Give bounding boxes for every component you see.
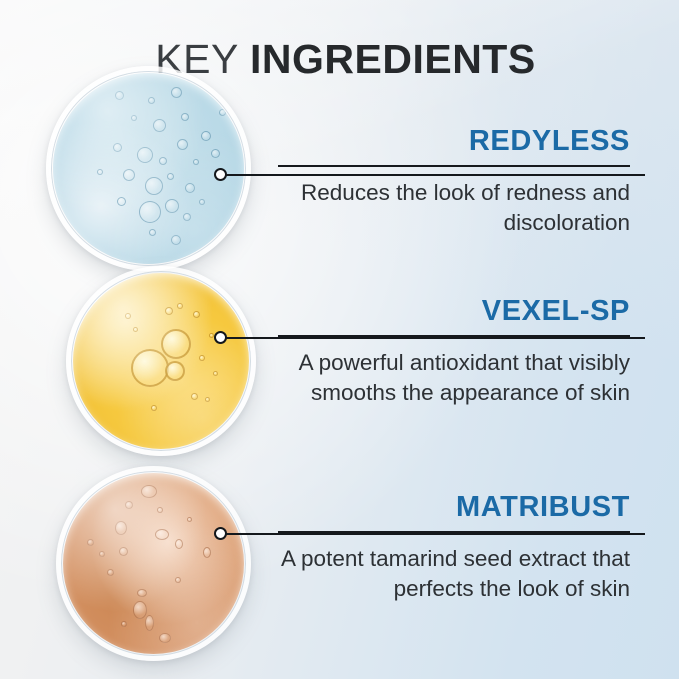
bubble <box>155 529 169 540</box>
bubble <box>177 303 183 309</box>
ingredient-block-matribust: MATRIBUST A potent tamarind seed extract… <box>278 492 630 603</box>
bubble <box>185 183 195 193</box>
ingredient-divider <box>278 165 630 167</box>
bubble <box>201 131 211 141</box>
bubble <box>203 547 211 558</box>
ingredient-description: A powerful antioxidant that visibly smoo… <box>278 348 630 407</box>
bubble <box>121 621 127 627</box>
bubble <box>145 177 163 195</box>
bubble <box>115 91 124 100</box>
bubble <box>125 313 131 319</box>
sample-fluid-blue <box>53 73 244 264</box>
bubble <box>123 169 135 181</box>
bubble <box>117 197 126 206</box>
key-ingredients-poster: KEY INGREDIENTS <box>0 0 679 679</box>
bubble <box>131 115 137 121</box>
bubble <box>171 87 182 98</box>
bubble <box>167 173 174 180</box>
bubble <box>149 229 156 236</box>
bubble <box>97 169 103 175</box>
bubble <box>175 577 181 583</box>
connector-node-icon <box>214 168 227 181</box>
bubble <box>183 213 191 221</box>
sample-fluid-gold <box>73 273 249 449</box>
bubble <box>199 199 205 205</box>
bubble <box>205 397 210 402</box>
bubble <box>115 521 127 535</box>
bubble <box>148 97 155 104</box>
bubble <box>137 147 153 163</box>
sample-fluid-copper <box>63 473 244 654</box>
ingredient-sample-vexel-sp <box>66 266 256 456</box>
ingredient-name: REDYLESS <box>278 126 630 156</box>
bubble <box>165 199 179 213</box>
bubble <box>151 405 157 411</box>
bubble <box>187 517 192 522</box>
bubble <box>139 201 161 223</box>
bubble <box>181 113 189 121</box>
bubble <box>161 329 191 359</box>
bubble <box>177 139 188 150</box>
bubble <box>165 361 185 381</box>
connector-node-icon <box>214 527 227 540</box>
page-title-bold: INGREDIENTS <box>250 36 536 82</box>
bubble <box>141 485 157 498</box>
ingredient-description: A potent tamarind seed extract that perf… <box>278 544 630 603</box>
bubble <box>153 119 166 132</box>
bubble <box>131 349 169 387</box>
ingredient-divider <box>278 335 630 337</box>
bubble <box>199 355 205 361</box>
ingredient-divider <box>278 531 630 533</box>
bubble <box>157 507 163 513</box>
bubble <box>165 307 173 315</box>
bubble <box>219 109 226 116</box>
bubble <box>133 601 147 619</box>
bubble <box>171 235 181 245</box>
bubble <box>193 159 199 165</box>
bubble <box>133 327 138 332</box>
ingredient-description: Reduces the look of redness and discolor… <box>278 178 630 237</box>
bubble <box>191 393 198 400</box>
bubble <box>125 501 133 509</box>
bubble <box>211 149 220 158</box>
bubble <box>137 589 147 597</box>
bubble <box>145 615 154 631</box>
ingredient-sample-matribust <box>56 466 251 661</box>
ingredient-block-redyless: REDYLESS Reduces the look of redness and… <box>278 126 630 237</box>
bubble <box>99 551 105 557</box>
bubble <box>87 539 94 546</box>
bubble <box>113 143 122 152</box>
connector-node-icon <box>214 331 227 344</box>
ingredient-name: MATRIBUST <box>278 492 630 522</box>
bubble <box>213 371 218 376</box>
bubble <box>159 633 171 643</box>
ingredient-name: VEXEL-SP <box>278 296 630 326</box>
bubble <box>119 547 128 556</box>
bubble <box>175 539 183 549</box>
ingredient-block-vexel-sp: VEXEL-SP A powerful antioxidant that vis… <box>278 296 630 407</box>
bubble <box>107 569 114 576</box>
bubble <box>193 311 200 318</box>
bubble <box>159 157 167 165</box>
